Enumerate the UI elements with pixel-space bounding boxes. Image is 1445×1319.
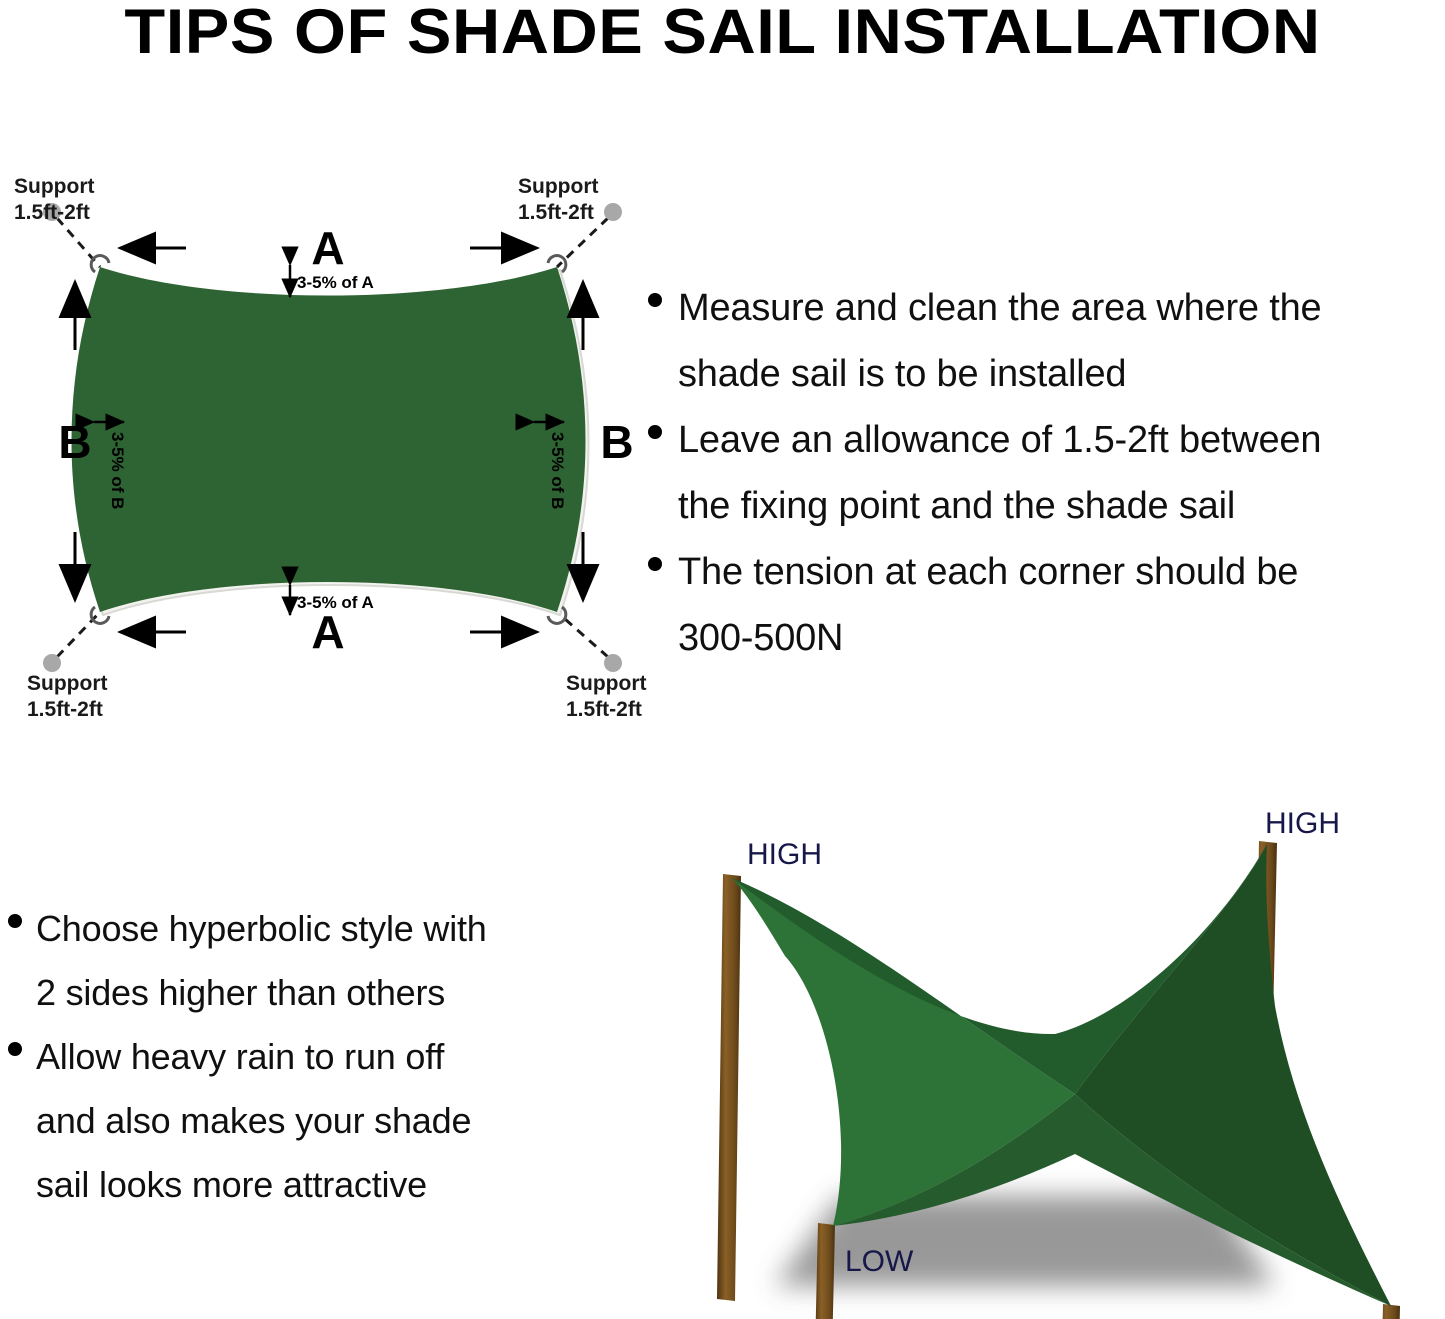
svg-text:1.5ft-2ft: 1.5ft-2ft	[518, 201, 594, 224]
bullet-dot-icon	[648, 557, 662, 571]
bullet-dot-icon	[8, 914, 22, 928]
support-label-bottom-left: Support 1.5ft-2ft	[27, 672, 107, 721]
tip-line: 2 sides higher than others	[36, 962, 445, 1024]
label-high-left: HIGH	[747, 838, 822, 871]
list-item-continuation: shade sail is to be installed	[648, 342, 1445, 406]
curve-callout-a-top-label: 3-5% of A	[297, 273, 374, 292]
tip-line: 300-500N	[678, 606, 843, 670]
tip-line: Measure and clean the area where the	[678, 276, 1321, 340]
bullet-dot-icon	[648, 425, 662, 439]
post-high-left	[717, 874, 741, 1301]
svg-text:Support: Support	[14, 175, 94, 198]
label-low-left: LOW	[845, 1245, 914, 1278]
support-leader-bottom-left	[43, 612, 100, 672]
support-dot-icon	[43, 654, 61, 672]
tip-line: Leave an allowance of 1.5-2ft between	[678, 408, 1321, 472]
curve-callout-a-bottom: 3-5% of A	[290, 585, 374, 615]
support-label-top-right: Support 1.5ft-2ft	[518, 175, 598, 224]
hyperbolic-sail-illustration: HIGH HIGH LOW LOW	[655, 786, 1445, 1319]
list-item: Leave an allowance of 1.5-2ft between	[648, 408, 1445, 472]
tip-line: shade sail is to be installed	[678, 342, 1126, 406]
list-item-continuation: 300-500N	[648, 606, 1445, 670]
svg-text:Support: Support	[566, 672, 646, 695]
support-label-bottom-right: Support 1.5ft-2ft	[566, 672, 646, 721]
support-dot-icon	[604, 654, 622, 672]
list-item-continuation: and also makes your shade	[8, 1090, 628, 1152]
list-item: The tension at each corner should be	[648, 540, 1445, 604]
list-item-continuation: sail looks more attractive	[8, 1154, 628, 1216]
bullet-dot-icon	[8, 1042, 22, 1056]
svg-text:1.5ft-2ft: 1.5ft-2ft	[14, 201, 90, 224]
tip-line: sail looks more attractive	[36, 1154, 427, 1216]
tip-line: and also makes your shade	[36, 1090, 471, 1152]
bullet-dot-icon	[648, 293, 662, 307]
list-item: Measure and clean the area where the	[648, 276, 1445, 340]
tip-line: Choose hyperbolic style with	[36, 898, 487, 960]
support-leader-bottom-right	[557, 612, 622, 672]
dimension-a-bottom: A	[120, 606, 537, 658]
tip-line: The tension at each corner should be	[678, 540, 1298, 604]
curve-callout-b-left-label: 3-5% of B	[108, 432, 127, 509]
infographic-page: TIPS OF SHADE SAIL INSTALLATION	[0, 0, 1445, 1319]
shade-sail-fabric	[72, 267, 586, 612]
dimension-b-right: B	[583, 282, 634, 600]
list-item: Choose hyperbolic style with	[8, 898, 628, 960]
tip-line: Allow heavy rain to run off	[36, 1026, 444, 1088]
support-dot-icon	[604, 203, 622, 221]
support-label-top-left: Support 1.5ft-2ft	[14, 175, 94, 224]
post-low-right	[1378, 1304, 1400, 1319]
installation-tips-list: Measure and clean the area where the sha…	[648, 276, 1445, 672]
rectangular-sail-diagram: A 3-5% of A A 3-5% of A B 3-5% of B	[0, 160, 660, 730]
list-item-continuation: 2 sides higher than others	[8, 962, 628, 1024]
svg-text:1.5ft-2ft: 1.5ft-2ft	[566, 698, 642, 721]
list-item-continuation: the fixing point and the shade sail	[648, 474, 1445, 538]
curve-callout-a-bottom-label: 3-5% of A	[297, 593, 374, 612]
dimension-letter-a-bottom: A	[311, 606, 344, 658]
dimension-letter-b-right: B	[600, 416, 633, 468]
svg-text:Support: Support	[27, 672, 107, 695]
dimension-letter-a-top: A	[311, 222, 344, 274]
hyperbolic-style-tips-list: Choose hyperbolic style with 2 sides hig…	[8, 898, 628, 1218]
list-item: Allow heavy rain to run off	[8, 1026, 628, 1088]
svg-text:1.5ft-2ft: 1.5ft-2ft	[27, 698, 103, 721]
svg-text:Support: Support	[518, 175, 598, 198]
tip-line: the fixing point and the shade sail	[678, 474, 1235, 538]
curve-callout-b-right-label: 3-5% of B	[548, 432, 567, 509]
dimension-a-top: A	[120, 222, 537, 274]
label-high-right: HIGH	[1265, 807, 1340, 840]
page-title: TIPS OF SHADE SAIL INSTALLATION	[0, 0, 1445, 68]
dimension-letter-b-left: B	[58, 416, 91, 468]
